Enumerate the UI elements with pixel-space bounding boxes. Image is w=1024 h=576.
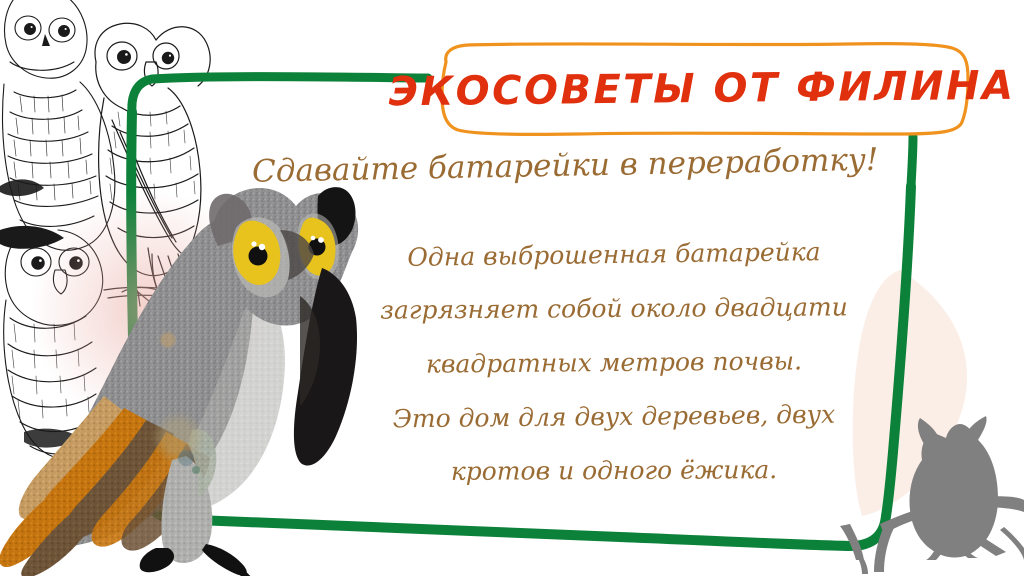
poster-body-text: Одна выброшенная батарейка загрязняет со… <box>360 228 868 498</box>
body-line: кротов и одного ёжика. <box>360 443 868 500</box>
body-line: Это дом для двух деревьев, двух <box>360 387 869 446</box>
body-line: загрязняет собой около двадцати <box>360 280 868 338</box>
body-line: Одна выброшенная батарейка <box>360 224 869 285</box>
poster-title: ЭКОСОВЕТЫ ОТ ФИЛИНА <box>428 37 977 141</box>
eco-tip-poster: ЭКОСОВЕТЫ ОТ ФИЛИНА Сдавайте батарейки в… <box>0 0 1024 576</box>
body-line: квадратных метров почвы. <box>360 334 868 392</box>
title-banner: ЭКОСОВЕТЫ ОТ ФИЛИНА <box>428 40 976 138</box>
